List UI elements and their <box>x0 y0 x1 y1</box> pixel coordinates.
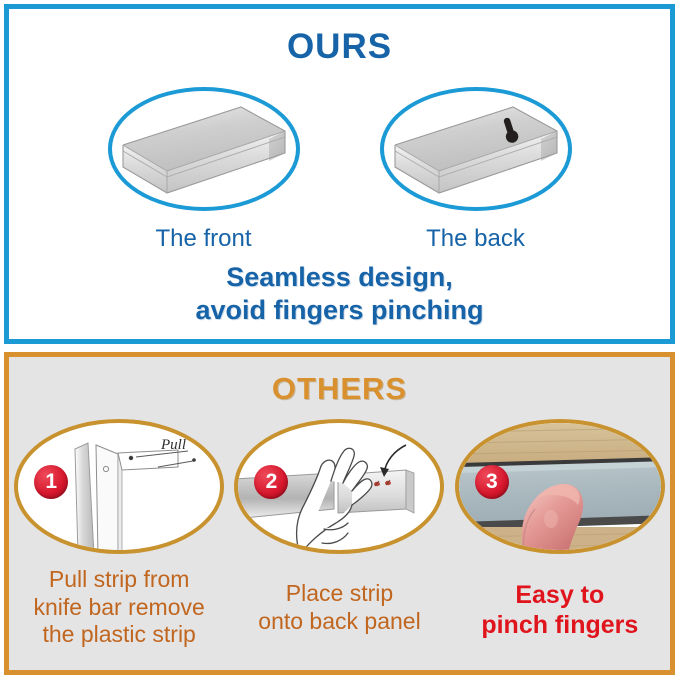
ours-title: OURS <box>9 27 670 67</box>
caption-line-3: the plastic strip <box>34 621 205 649</box>
others-steps: Pull 1 Pull strip from knife bar remove … <box>9 419 670 649</box>
others-step-caption-danger: Easy to pinch fingers <box>481 580 638 640</box>
step-number-badge: 1 <box>34 465 68 499</box>
pull-label: Pull <box>160 437 186 453</box>
ours-tagline-line2: avoid fingers pinching <box>9 294 670 327</box>
oval-outline-front <box>108 87 300 211</box>
oval-outline-step-1: Pull 1 <box>14 419 224 554</box>
others-step-caption: Place strip onto back panel <box>258 580 420 635</box>
others-step-2: 2 Place strip onto back panel <box>230 419 448 635</box>
caption-line-1: Place strip <box>258 580 420 608</box>
comparison-infographic: OURS <box>0 0 679 679</box>
ours-tagline-line1: Seamless design, <box>9 261 670 294</box>
caption-line-2: knife bar remove <box>34 594 205 622</box>
metal-bar-front-icon <box>119 101 289 197</box>
oval-outline-step-2: 2 <box>234 419 444 554</box>
caption-line-2: onto back panel <box>258 608 420 636</box>
ours-figure-caption: The back <box>426 225 525 253</box>
oval-outline-step-3: 3 <box>455 419 665 554</box>
ours-figure-caption: The front <box>155 225 251 253</box>
caption-line-1: Easy to <box>481 580 638 610</box>
caption-line-1: Pull strip from <box>34 566 205 594</box>
metal-bar-back-keyhole-icon <box>391 101 561 197</box>
oval-outline-back <box>380 87 572 211</box>
ours-figure-front: The front <box>94 87 314 253</box>
ours-figure-back: The back <box>366 87 586 253</box>
ours-panel: OURS <box>4 4 675 344</box>
others-step-caption: Pull strip from knife bar remove the pla… <box>34 566 205 649</box>
ours-figures: The front <box>9 87 670 253</box>
ours-tagline: Seamless design, avoid fingers pinching <box>9 261 670 327</box>
step-number-badge: 3 <box>475 465 509 499</box>
others-title: OTHERS <box>9 371 670 407</box>
others-step-1: Pull 1 Pull strip from knife bar remove … <box>10 419 228 649</box>
others-step-3: 3 Easy to pinch fingers <box>451 419 669 640</box>
caption-line-2: pinch fingers <box>481 610 638 640</box>
others-panel: OTHERS <box>4 352 675 675</box>
